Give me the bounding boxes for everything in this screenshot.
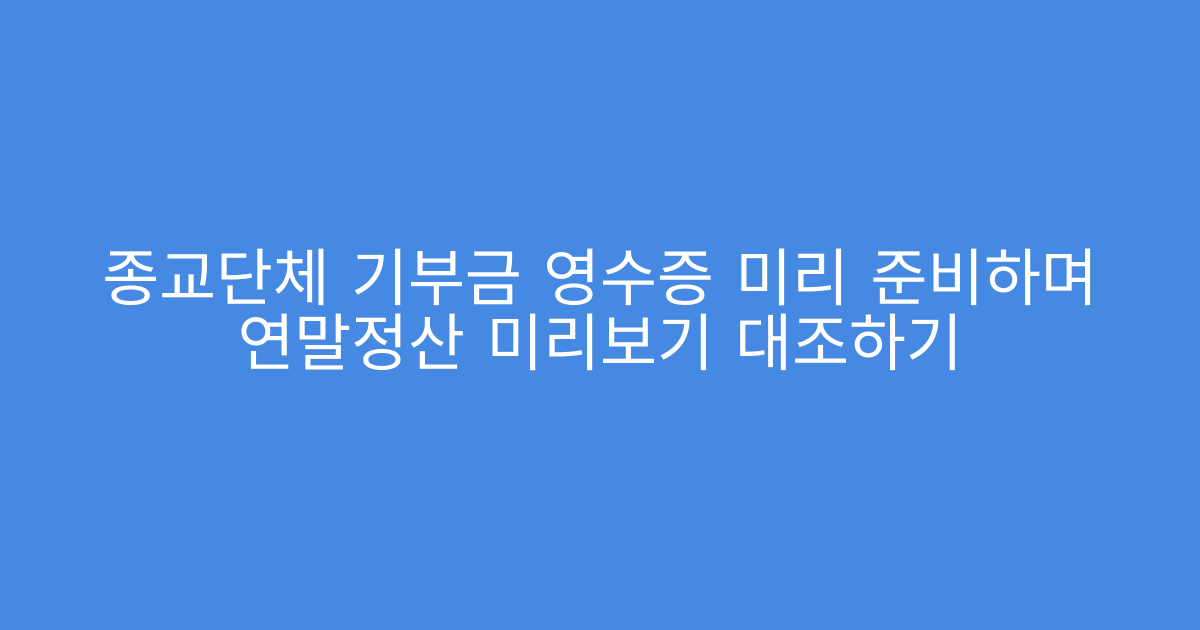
headline-block: 종교단체 기부금 영수증 미리 준비하며 연말정산 미리보기 대조하기	[0, 246, 1200, 376]
banner-canvas: 종교단체 기부금 영수증 미리 준비하며 연말정산 미리보기 대조하기	[0, 0, 1200, 630]
page-title: 종교단체 기부금 영수증 미리 준비하며 연말정산 미리보기 대조하기	[80, 246, 1120, 376]
